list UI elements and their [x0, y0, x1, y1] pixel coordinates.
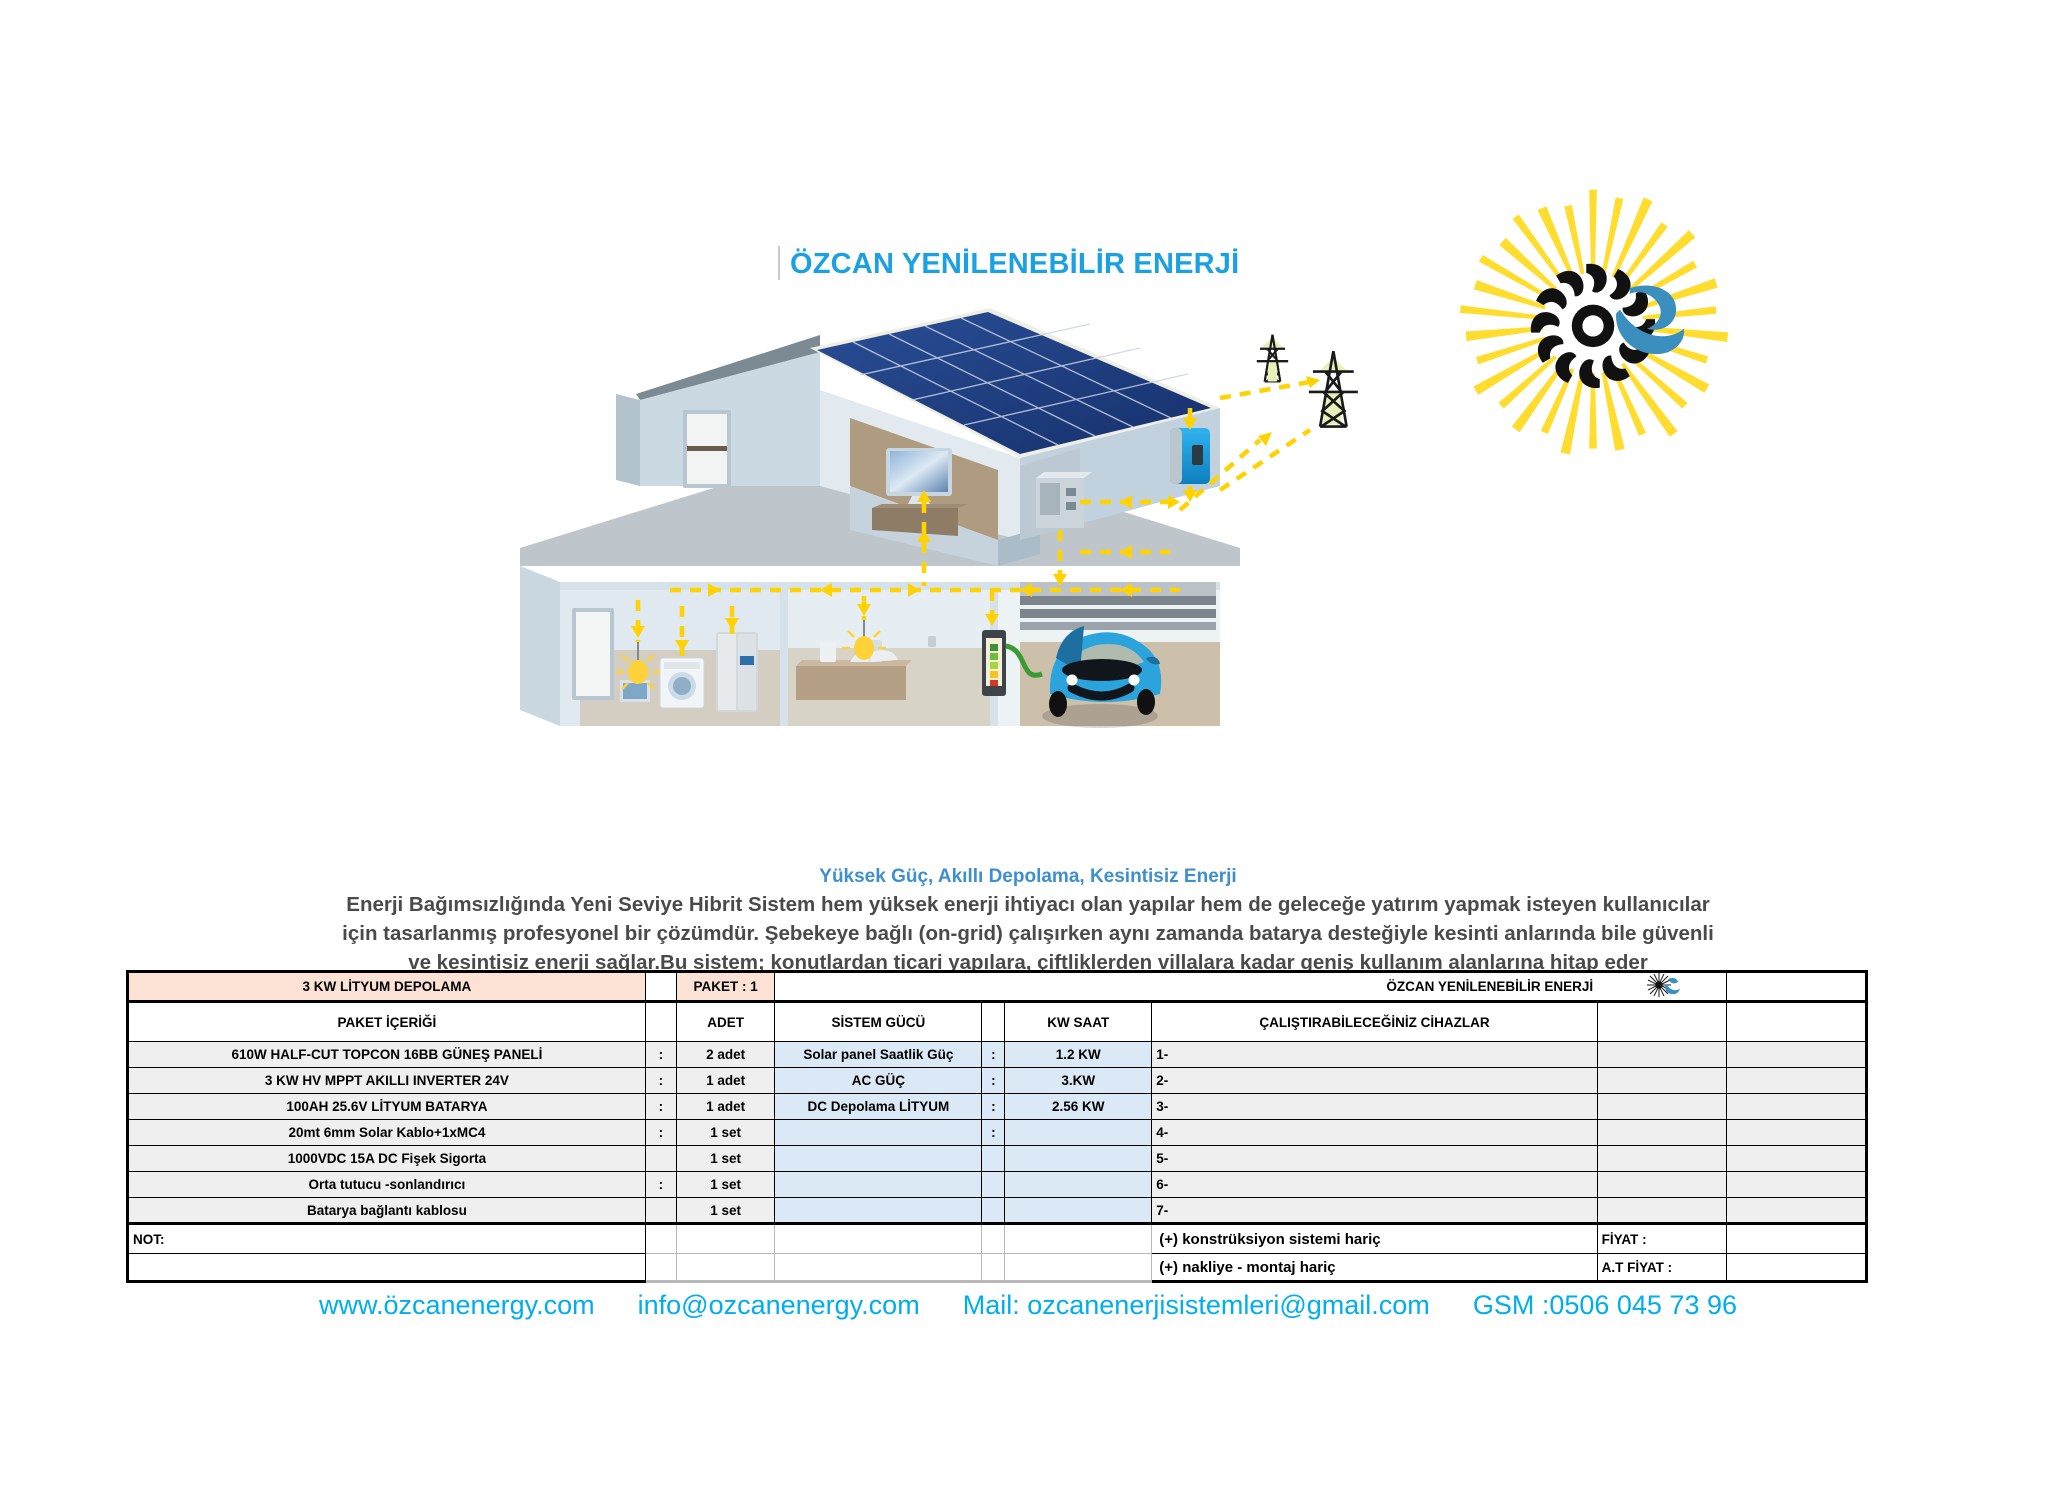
mini-sun-icon — [1597, 972, 1726, 1002]
table-row: 20mt 6mm Solar Kablo+1xMC4 : 1 set : 4- — [128, 1120, 1867, 1146]
row-blank-1 — [1597, 1094, 1726, 1120]
row-blank-2 — [1727, 1094, 1867, 1120]
row-qty: 1 set — [676, 1146, 774, 1172]
header-kw-saat: KW SAAT — [1005, 1002, 1152, 1042]
footer-spacer-3 — [775, 1254, 982, 1282]
row-power-label — [775, 1146, 982, 1172]
row-colon-2: : — [982, 1042, 1005, 1068]
note-label: NOT: — [128, 1224, 646, 1254]
table-row: Orta tutucu -sonlandırıcı : 1 set 6- — [128, 1172, 1867, 1198]
table-header-row: PAKET İÇERİĞİ ADET SİSTEM GÜCÜ KW SAAT Ç… — [128, 1002, 1867, 1042]
row-item: 1000VDC 15A DC Fişek Sigorta — [128, 1146, 646, 1172]
row-blank-1 — [1597, 1198, 1726, 1224]
description-paragraph: Enerji Bağımsızlığında Yeni Seviye Hibri… — [300, 890, 1756, 977]
row-colon-1: : — [645, 1068, 676, 1094]
row-colon-2 — [982, 1172, 1005, 1198]
row-blank-1 — [1597, 1068, 1726, 1094]
price-label-1: FİYAT : — [1597, 1224, 1726, 1254]
row-colon-1: : — [645, 1172, 676, 1198]
title-spacer-5 — [1727, 972, 1867, 1002]
row-qty: 1 adet — [676, 1068, 774, 1094]
footer-spacer-4 — [982, 1254, 1005, 1282]
brand-divider — [778, 246, 780, 280]
company-name: ÖZCAN YENİLENEBİLİR ENERJİ — [1152, 972, 1597, 1002]
row-colon-1: : — [645, 1042, 676, 1068]
row-blank-1 — [1597, 1042, 1726, 1068]
footer-note-2: (+) nakliye - montaj hariç — [1152, 1254, 1597, 1282]
price-value-2[interactable] — [1727, 1254, 1867, 1282]
note-spacer-1 — [645, 1224, 676, 1254]
row-device: 1- — [1152, 1042, 1597, 1068]
row-kw — [1005, 1198, 1152, 1224]
note-row: NOT: (+) konstrüksiyon sistemi hariç FİY… — [128, 1224, 1867, 1254]
row-colon-1 — [645, 1146, 676, 1172]
row-blank-2 — [1727, 1198, 1867, 1224]
packet-label: PAKET : 1 — [676, 972, 774, 1002]
row-kw: 1.2 KW — [1005, 1042, 1152, 1068]
row-power-label — [775, 1120, 982, 1146]
header-sistem-gucu: SİSTEM GÜCÜ — [775, 1002, 982, 1042]
row-kw: 3.KW — [1005, 1068, 1152, 1094]
footer-spacer-5 — [1005, 1254, 1152, 1282]
header-paket-icerigi: PAKET İÇERİĞİ — [128, 1002, 646, 1042]
brand-title: ÖZCAN YENİLENEBİLİR ENERJİ — [790, 248, 1239, 281]
paragraph-line-1: Enerji Bağımsızlığında Yeni Seviye Hibri… — [300, 890, 1756, 919]
title-spacer-4 — [1005, 972, 1152, 1002]
mail-link[interactable]: Mail: ozcanenerjisistemleri@gmail.com — [963, 1290, 1430, 1321]
gsm-number: GSM :0506 045 73 96 — [1473, 1290, 1737, 1321]
note-spacer-4 — [982, 1224, 1005, 1254]
row-qty: 1 set — [676, 1172, 774, 1198]
row-blank-2 — [1727, 1120, 1867, 1146]
row-colon-2 — [982, 1146, 1005, 1172]
price-label-2: A.T FİYAT : — [1597, 1254, 1726, 1282]
row-qty: 1 adet — [676, 1094, 774, 1120]
paragraph-line-2: için tasarlanmış profesyonel bir çözümdü… — [300, 919, 1756, 948]
note-value[interactable] — [128, 1254, 646, 1282]
row-colon-1 — [645, 1198, 676, 1224]
row-item: 3 KW HV MPPT AKILLI INVERTER 24V — [128, 1068, 646, 1094]
row-kw — [1005, 1146, 1152, 1172]
table-row: 1000VDC 15A DC Fişek Sigorta 1 set 5- — [128, 1146, 1867, 1172]
row-item: Orta tutucu -sonlandırıcı — [128, 1172, 646, 1198]
footer-contact: www.özcanenergy.com info@ozcanenergy.com… — [0, 1290, 2056, 1321]
package-title: 3 KW LİTYUM DEPOLAMA — [128, 972, 646, 1002]
header-spacer-1 — [645, 1002, 676, 1042]
row-power-label — [775, 1172, 982, 1198]
row-device: 5- — [1152, 1146, 1597, 1172]
footer-spacer-1 — [645, 1254, 676, 1282]
header-spacer-2 — [982, 1002, 1005, 1042]
poster-page: ÖZCAN YENİLENEBİLİR ENERJİ — [0, 0, 2056, 1511]
row-blank-2 — [1727, 1068, 1867, 1094]
row-blank-1 — [1597, 1120, 1726, 1146]
info-email-link[interactable]: info@ozcanenergy.com — [638, 1290, 920, 1321]
row-item: 100AH 25.6V LİTYUM BATARYA — [128, 1094, 646, 1120]
title-spacer-2 — [775, 972, 982, 1002]
header-spacer-3 — [1597, 1002, 1726, 1042]
row-power-label: DC Depolama LİTYUM — [775, 1094, 982, 1120]
row-kw: 2.56 KW — [1005, 1094, 1152, 1120]
package-spec-table: 3 KW LİTYUM DEPOLAMA PAKET : 1 ÖZCAN YEN… — [126, 970, 1868, 1283]
row-item: 20mt 6mm Solar Kablo+1xMC4 — [128, 1120, 646, 1146]
row-colon-1: : — [645, 1120, 676, 1146]
row-blank-2 — [1727, 1146, 1867, 1172]
row-colon-1: : — [645, 1094, 676, 1120]
row-power-label: Solar panel Saatlik Güç — [775, 1042, 982, 1068]
footer-row: (+) nakliye - montaj hariç A.T FİYAT : — [128, 1254, 1867, 1282]
row-power-label — [775, 1198, 982, 1224]
solar-house-illustration — [520, 290, 1380, 810]
row-blank-2 — [1727, 1172, 1867, 1198]
row-item: Batarya bağlantı kablosu — [128, 1198, 646, 1224]
row-qty: 1 set — [676, 1198, 774, 1224]
table-row: 610W HALF-CUT TOPCON 16BB GÜNEŞ PANELİ :… — [128, 1042, 1867, 1068]
header-spacer-4 — [1727, 1002, 1867, 1042]
tagline: Yüksek Güç, Akıllı Depolama, Kesintisiz … — [0, 866, 2056, 888]
row-kw — [1005, 1172, 1152, 1198]
table-title-row: 3 KW LİTYUM DEPOLAMA PAKET : 1 ÖZCAN YEN… — [128, 972, 1867, 1002]
row-blank-1 — [1597, 1146, 1726, 1172]
footer-spacer-2 — [676, 1254, 774, 1282]
footer-note-1: (+) konstrüksiyon sistemi hariç — [1152, 1224, 1597, 1254]
row-device: 3- — [1152, 1094, 1597, 1120]
website-link[interactable]: www.özcanenergy.com — [319, 1290, 595, 1321]
row-qty: 1 set — [676, 1120, 774, 1146]
note-spacer-5 — [1005, 1224, 1152, 1254]
price-value-1[interactable] — [1727, 1224, 1867, 1254]
note-spacer-2 — [676, 1224, 774, 1254]
row-power-label: AC GÜÇ — [775, 1068, 982, 1094]
table-row: Batarya bağlantı kablosu 1 set 7- — [128, 1198, 1867, 1224]
row-device: 2- — [1152, 1068, 1597, 1094]
title-spacer-1 — [645, 972, 676, 1002]
row-kw — [1005, 1120, 1152, 1146]
row-device: 7- — [1152, 1198, 1597, 1224]
row-colon-2: : — [982, 1094, 1005, 1120]
title-spacer-3 — [982, 972, 1005, 1002]
row-colon-2: : — [982, 1120, 1005, 1146]
row-blank-1 — [1597, 1172, 1726, 1198]
row-device: 6- — [1152, 1172, 1597, 1198]
row-colon-2: : — [982, 1068, 1005, 1094]
table-row: 100AH 25.6V LİTYUM BATARYA : 1 adet DC D… — [128, 1094, 1867, 1120]
sun-logo — [1448, 178, 1738, 468]
row-colon-2 — [982, 1198, 1005, 1224]
row-device: 4- — [1152, 1120, 1597, 1146]
header-cihazlar: ÇALIŞTIRABİLECEĞİNİZ CİHAZLAR — [1152, 1002, 1597, 1042]
table-row: 3 KW HV MPPT AKILLI INVERTER 24V : 1 ade… — [128, 1068, 1867, 1094]
row-qty: 2 adet — [676, 1042, 774, 1068]
header-adet: ADET — [676, 1002, 774, 1042]
row-item: 610W HALF-CUT TOPCON 16BB GÜNEŞ PANELİ — [128, 1042, 646, 1068]
note-spacer-3 — [775, 1224, 982, 1254]
row-blank-2 — [1727, 1042, 1867, 1068]
